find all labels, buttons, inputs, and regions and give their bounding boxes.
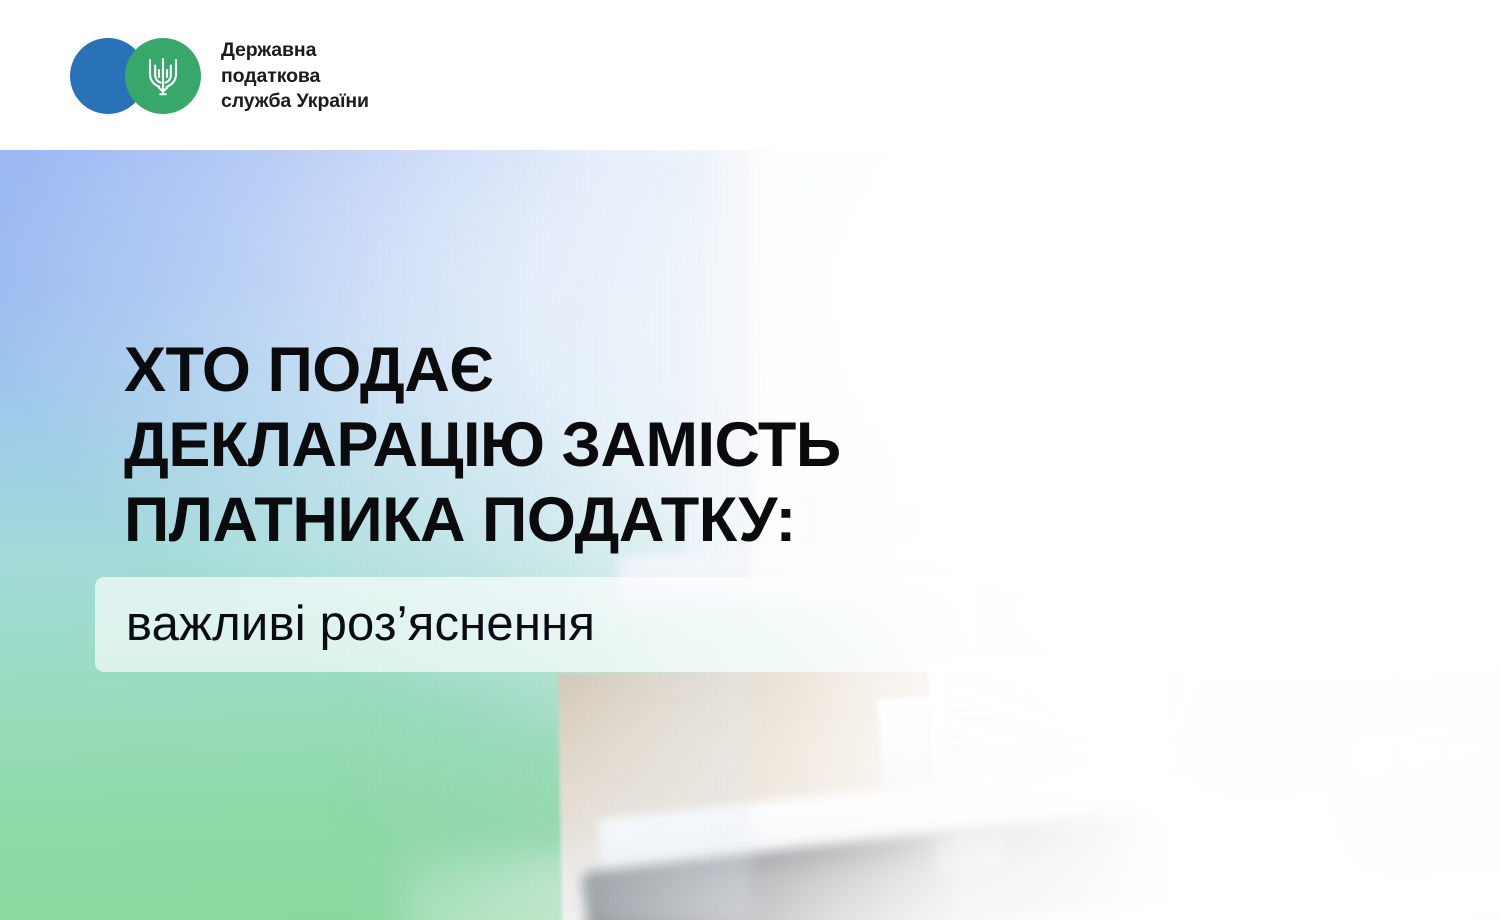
banner: ХТО ПОДАЄ ДЕКЛАРАЦІЮ ЗАМІСТЬ ПЛАТНИКА ПО…: [0, 0, 1500, 920]
logo-text-line-2: податкова: [221, 64, 369, 90]
ukraine-trident-icon: [125, 38, 201, 114]
hero-headline: ХТО ПОДАЄ ДЕКЛАРАЦІЮ ЗАМІСТЬ ПЛАТНИКА ПО…: [124, 333, 1024, 558]
logo-text-line-1: Державна: [221, 38, 369, 64]
logo-wordmark: Державна податкова служба України: [221, 38, 369, 115]
headline-line-1: ХТО ПОДАЄ: [124, 333, 1024, 408]
headline-line-2: ДЕКЛАРАЦІЮ ЗАМІСТЬ: [124, 408, 1024, 483]
logo-marks: [70, 38, 201, 114]
page-header: Державна податкова служба України: [0, 0, 1500, 150]
headline-line-3: ПЛАТНИКА ПОДАТКУ:: [124, 483, 1024, 558]
dps-logo[interactable]: Державна податкова служба України: [70, 38, 369, 115]
logo-text-line-3: служба України: [221, 89, 369, 115]
hero-subtitle: важливі роз’яснення: [126, 592, 595, 656]
